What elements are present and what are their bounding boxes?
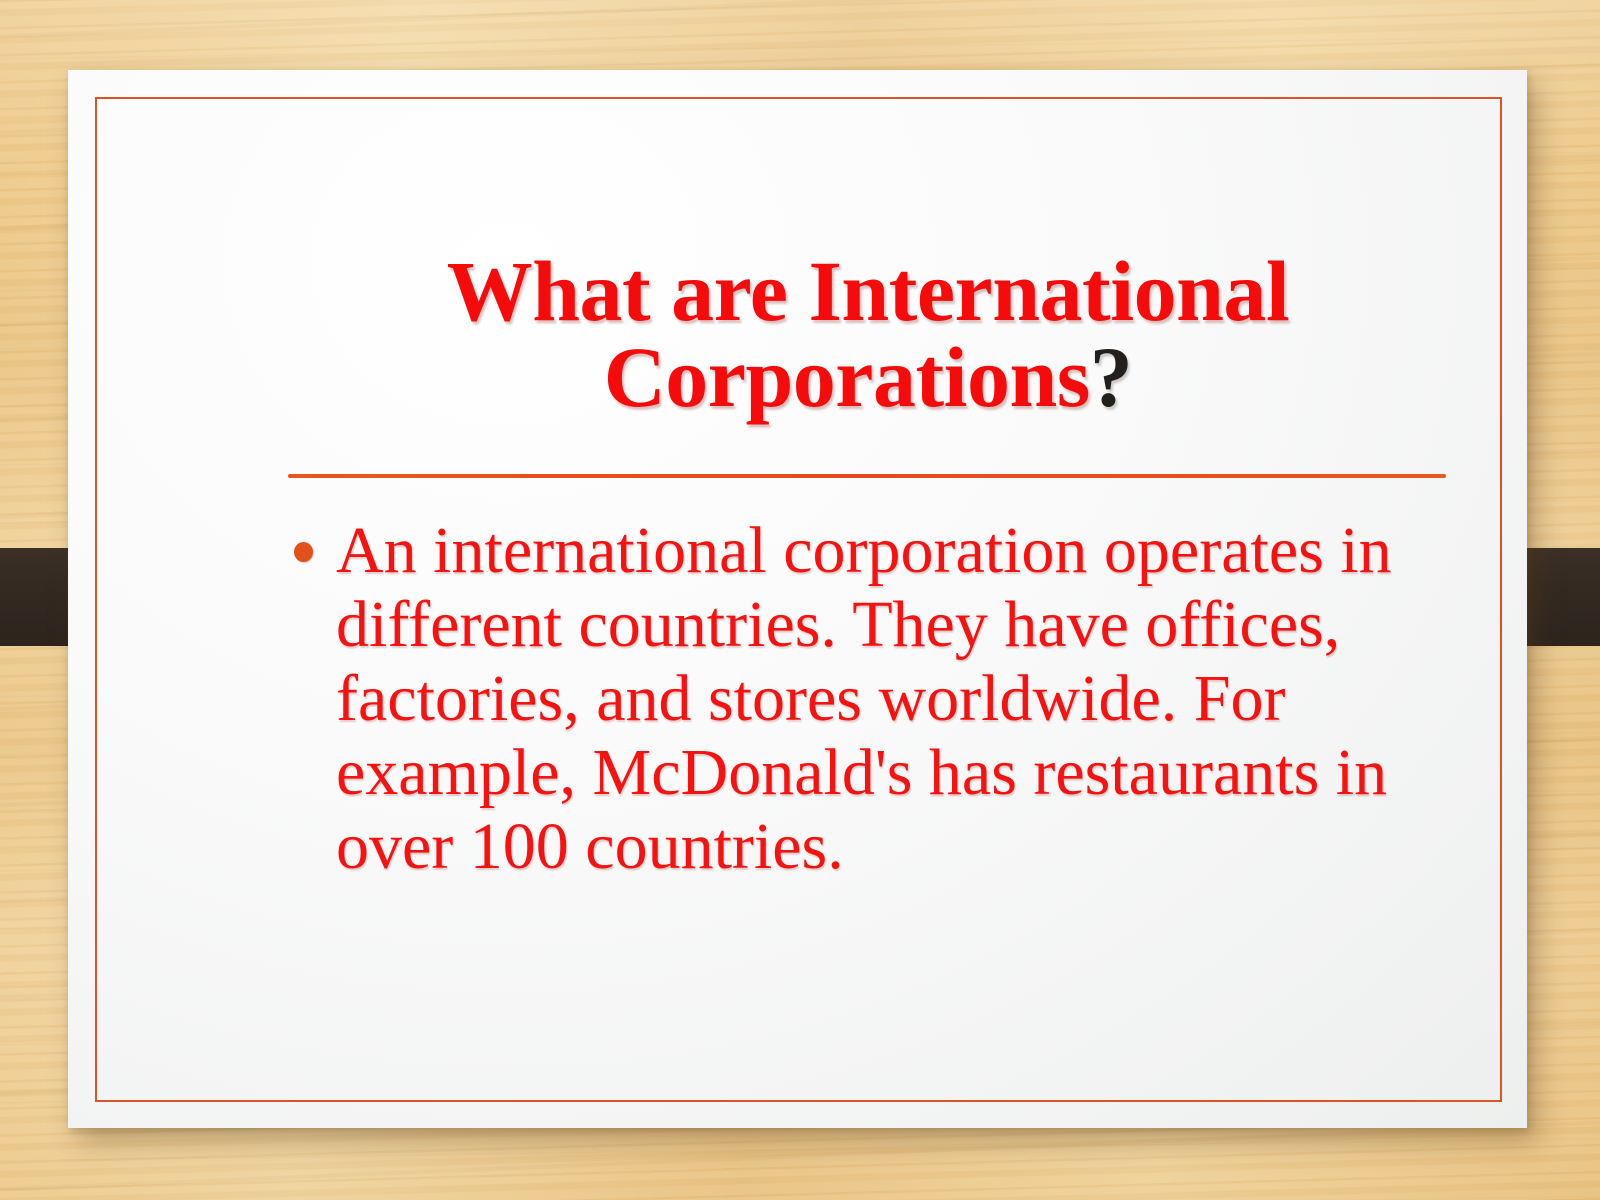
slide-title-text: What are International Corporations xyxy=(447,243,1290,425)
slide-title-question-mark: ? xyxy=(1090,329,1133,425)
list-item: An international corporation operates in… xyxy=(286,514,1466,884)
bullet-dot-icon xyxy=(294,542,313,562)
presentation-slide: What are International Corporations? An … xyxy=(0,0,1600,1200)
list-item-text: An international corporation operates in… xyxy=(336,514,1392,883)
title-divider-rule xyxy=(288,474,1446,478)
slide-paper-card: What are International Corporations? An … xyxy=(68,70,1527,1128)
slide-title-block: What are International Corporations? xyxy=(268,248,1468,420)
slide-title: What are International Corporations? xyxy=(268,248,1468,420)
slide-body-list: An international corporation operates in… xyxy=(286,514,1466,884)
